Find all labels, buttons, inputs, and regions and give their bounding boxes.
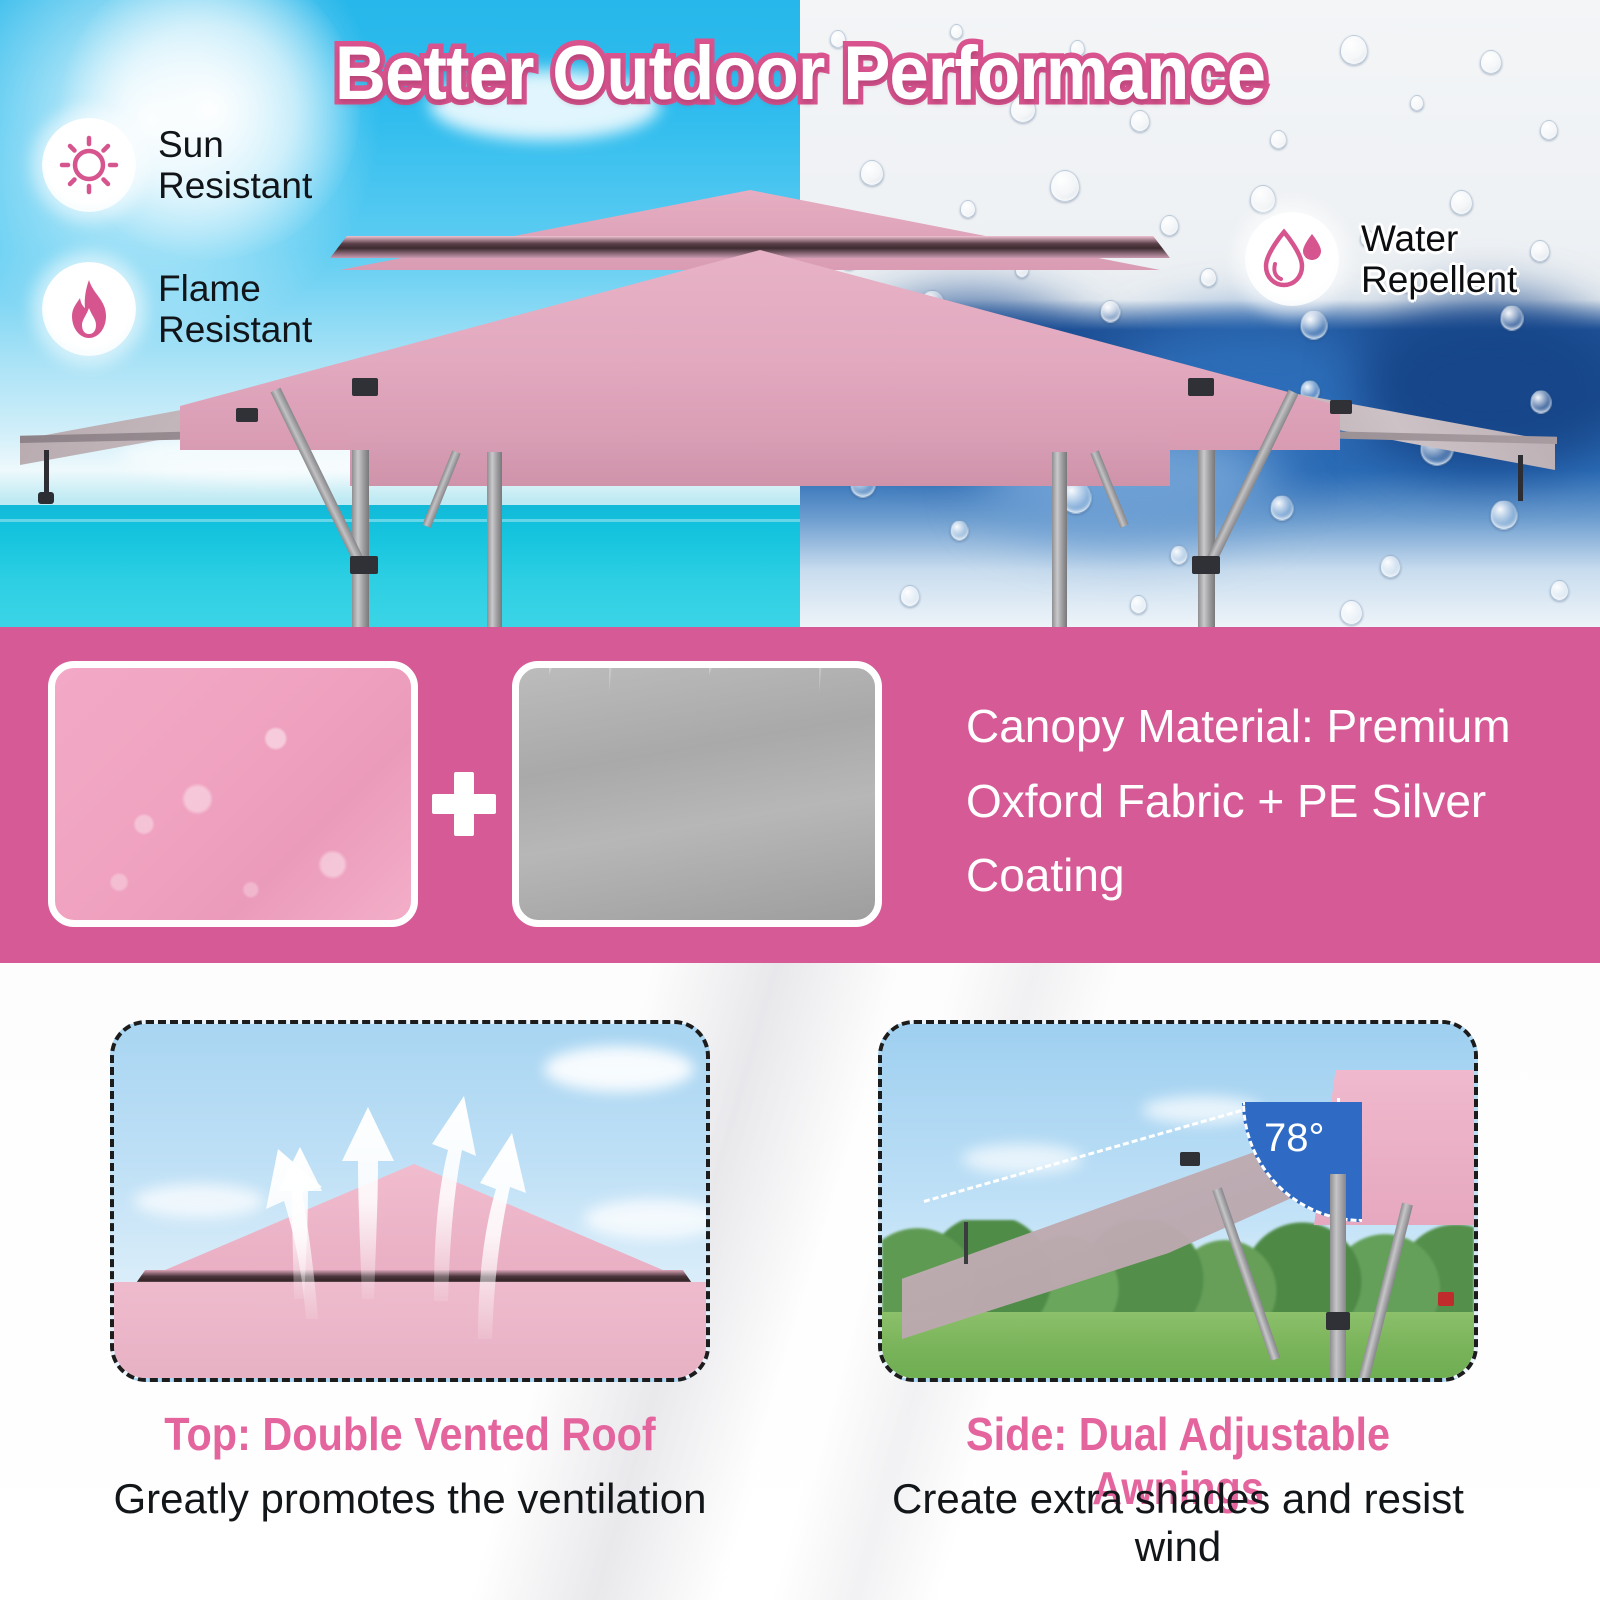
inner-left-pole — [487, 452, 502, 627]
left-awning-tassel-end — [38, 492, 54, 504]
left-support-pole — [352, 450, 369, 627]
badge-flame-label: Flame Resistant — [158, 268, 312, 351]
right-strut-joint — [1192, 556, 1220, 574]
plus-icon — [432, 772, 496, 836]
canopy-material-band: Canopy Material: Premium Oxford Fabric +… — [0, 627, 1600, 963]
awning-red-clip — [1438, 1292, 1454, 1306]
awning-tassel — [964, 1222, 968, 1264]
awning-joint — [1326, 1312, 1350, 1330]
dual-adjustable-awnings-photo: 78° — [878, 1020, 1478, 1382]
feature-subtitle-awnings: Create extra shades and resist wind — [848, 1475, 1508, 1571]
flame-icon — [60, 278, 118, 340]
feature-subtitle-vented-roof: Greatly promotes the ventilation — [80, 1475, 740, 1523]
hero-split-image: Better Outdoor Performance — [0, 0, 1600, 627]
sun-icon — [59, 135, 119, 195]
product-feature-infographic: Better Outdoor Performance — [0, 0, 1600, 1600]
double-vented-roof-photo — [110, 1020, 710, 1382]
canopy-main-roof — [180, 250, 1340, 450]
canopy-lower-roof — [110, 1282, 710, 1382]
left-strut-joint — [350, 556, 378, 574]
badge-water-label: Water Repellent — [1361, 218, 1517, 301]
inner-right-pole — [1052, 452, 1067, 627]
badge-water-repellent: Water Repellent — [1245, 212, 1517, 306]
water-drop-icon-circle — [1245, 212, 1339, 306]
right-support-pole — [1198, 450, 1215, 627]
grass-lawn — [882, 1312, 1474, 1378]
canopy-valance — [350, 430, 1170, 486]
airflow-arrow — [272, 1139, 332, 1299]
awning-vertical-pole — [1330, 1174, 1346, 1382]
awning-joint — [1180, 1152, 1200, 1166]
pink-waterproof-fabric-swatch — [48, 661, 418, 927]
canopy-material-text: Canopy Material: Premium Oxford Fabric +… — [966, 689, 1566, 913]
awning-joint — [352, 378, 378, 396]
airflow-arrow — [336, 1099, 406, 1299]
water-drop-icon — [1260, 228, 1324, 290]
badge-sun-resistant: Sun Resistant — [42, 118, 312, 212]
flame-icon-circle — [42, 262, 136, 356]
awning-joint — [1188, 378, 1214, 396]
left-awning-tassel — [44, 450, 49, 498]
feature-title-vented-roof: Top: Double Vented Roof — [140, 1407, 680, 1461]
awning-joint — [1330, 400, 1352, 414]
badge-flame-resistant: Flame Resistant — [42, 262, 312, 356]
angle-value-label: 78° — [1264, 1116, 1325, 1161]
page-title: Better Outdoor Performance — [56, 30, 1544, 117]
sun-icon-circle — [42, 118, 136, 212]
airflow-arrow — [454, 1119, 534, 1339]
right-awning-tassel — [1518, 455, 1523, 501]
feature-panels-section: Top: Double Vented Roof Greatly promotes… — [0, 963, 1600, 1600]
awning-joint — [236, 408, 258, 422]
badge-sun-label: Sun Resistant — [158, 124, 312, 207]
silver-coating-fabric-swatch — [512, 661, 882, 927]
